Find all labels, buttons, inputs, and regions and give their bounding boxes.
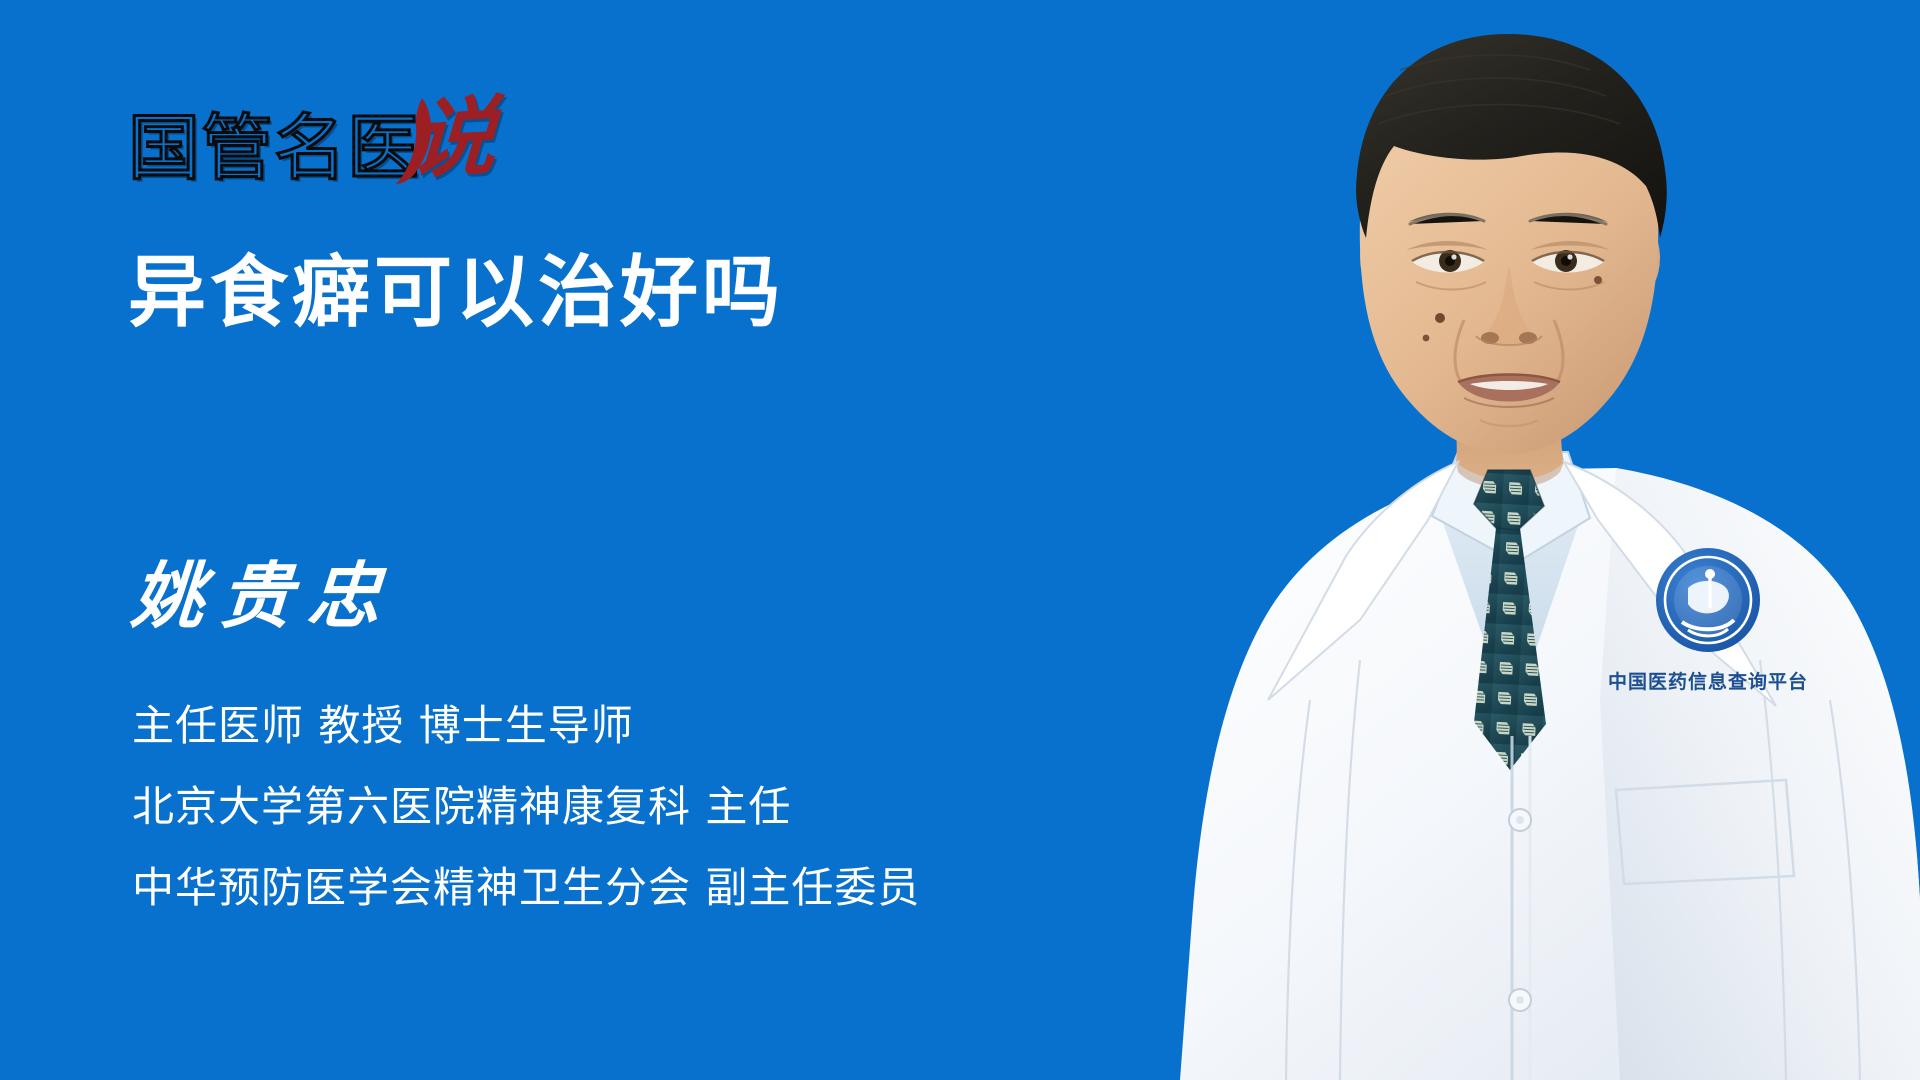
credential-line: 主任医师 教授 博士生导师 bbox=[132, 702, 920, 749]
program-logo-accent-text: 说 bbox=[408, 94, 499, 184]
credential-line: 中华预防医学会精神卫生分会 副主任委员 bbox=[132, 864, 920, 911]
credential-line: 北京大学第六医院精神康复科 主任 bbox=[132, 783, 920, 830]
slide-root: 中国医药信息查询平台 国管名医 说 异食癖可以治好吗 姚贵忠 主任医师 教授 博… bbox=[0, 0, 1920, 1080]
svg-text:中国医药信息查询平台: 中国医药信息查询平台 bbox=[1608, 670, 1808, 693]
doctor-name: 姚贵忠 bbox=[129, 560, 398, 632]
doctor-portrait: 中国医药信息查询平台 bbox=[1060, 0, 1920, 1080]
program-logo: 国管名医 说 bbox=[128, 88, 496, 184]
doctor-credentials: 主任医师 教授 博士生导师 北京大学第六医院精神康复科 主任 中华预防医学会精神… bbox=[132, 702, 920, 911]
program-logo-main-text: 国管名医 bbox=[128, 112, 420, 184]
page-title: 异食癖可以治好吗 bbox=[128, 250, 784, 337]
